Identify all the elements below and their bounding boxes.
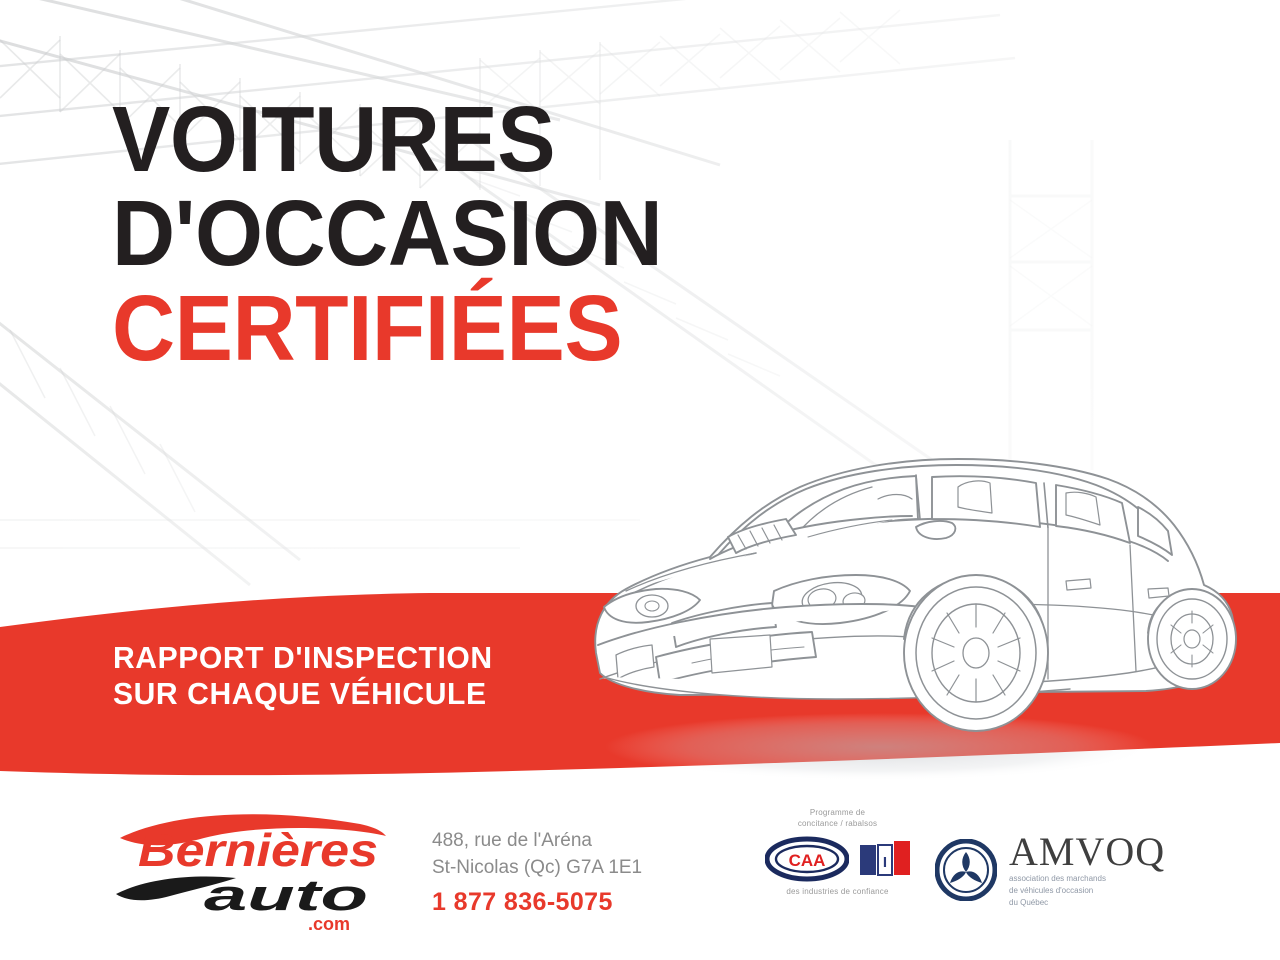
amvoq-tagline-3: du Québec <box>1009 898 1165 908</box>
caa-logo-row: CAA I <box>745 836 930 882</box>
amvoq-tagline-1: association des marchands <box>1009 874 1165 884</box>
caa-top-line-2: concitance / rabalsos <box>745 819 930 830</box>
phone-number[interactable]: 1 877 836-5075 <box>432 888 692 917</box>
amvoq-tagline-2: de véhicules d'occasion <box>1009 886 1165 896</box>
amvoq-emblem-icon <box>935 839 997 901</box>
amvoq-logo: AMVOQ association des marchands de véhic… <box>935 832 1165 909</box>
banner-line-2: SUR CHAQUE VÉHICULE <box>113 676 493 712</box>
logo-tld-text: .com <box>308 914 350 934</box>
headline-line-1: VOITURES <box>112 96 662 182</box>
address-line-1: 488, rue de l'Aréna <box>432 828 692 855</box>
ici-badge-icon: I <box>859 839 911 879</box>
svg-text:I: I <box>882 854 886 871</box>
inspection-banner-text: RAPPORT D'INSPECTION SUR CHAQUE VÉHICULE <box>113 640 504 712</box>
headline-block: VOITURES D'OCCASION CERTIFIÉES <box>112 96 697 371</box>
svg-text:CAA: CAA <box>788 851 825 870</box>
address-line-2: St-Nicolas (Qc) G7A 1E1 <box>432 855 692 882</box>
contact-block: 488, rue de l'Aréna St-Nicolas (Qc) G7A … <box>432 828 692 917</box>
sedan-line-art-icon <box>560 395 1260 795</box>
dealer-logo[interactable]: Bernières auto .com <box>108 798 398 938</box>
headline-line-3: CERTIFIÉES <box>112 285 662 371</box>
headline-line-2: D'OCCASION <box>112 190 662 276</box>
banner-line-1: RAPPORT D'INSPECTION <box>113 640 493 676</box>
caa-program-block: Programme de concitance / rabalsos CAA I… <box>745 808 930 928</box>
caa-logo-icon: CAA <box>765 836 849 882</box>
caa-bottom-line: des industries de confiance <box>745 887 930 896</box>
logo-brand-text: Bernières <box>138 824 378 876</box>
logo-auto-text: auto <box>204 871 368 920</box>
advertisement-poster: VOITURES D'OCCASION CERTIFIÉES RAPPORT D… <box>0 0 1280 960</box>
footer-bar: Bernières auto .com 488, rue de l'Aréna … <box>0 790 1280 960</box>
amvoq-text-block: AMVOQ association des marchands de véhic… <box>1009 832 1165 909</box>
amvoq-name: AMVOQ <box>1009 832 1165 872</box>
caa-top-line-1: Programme de <box>745 808 930 819</box>
